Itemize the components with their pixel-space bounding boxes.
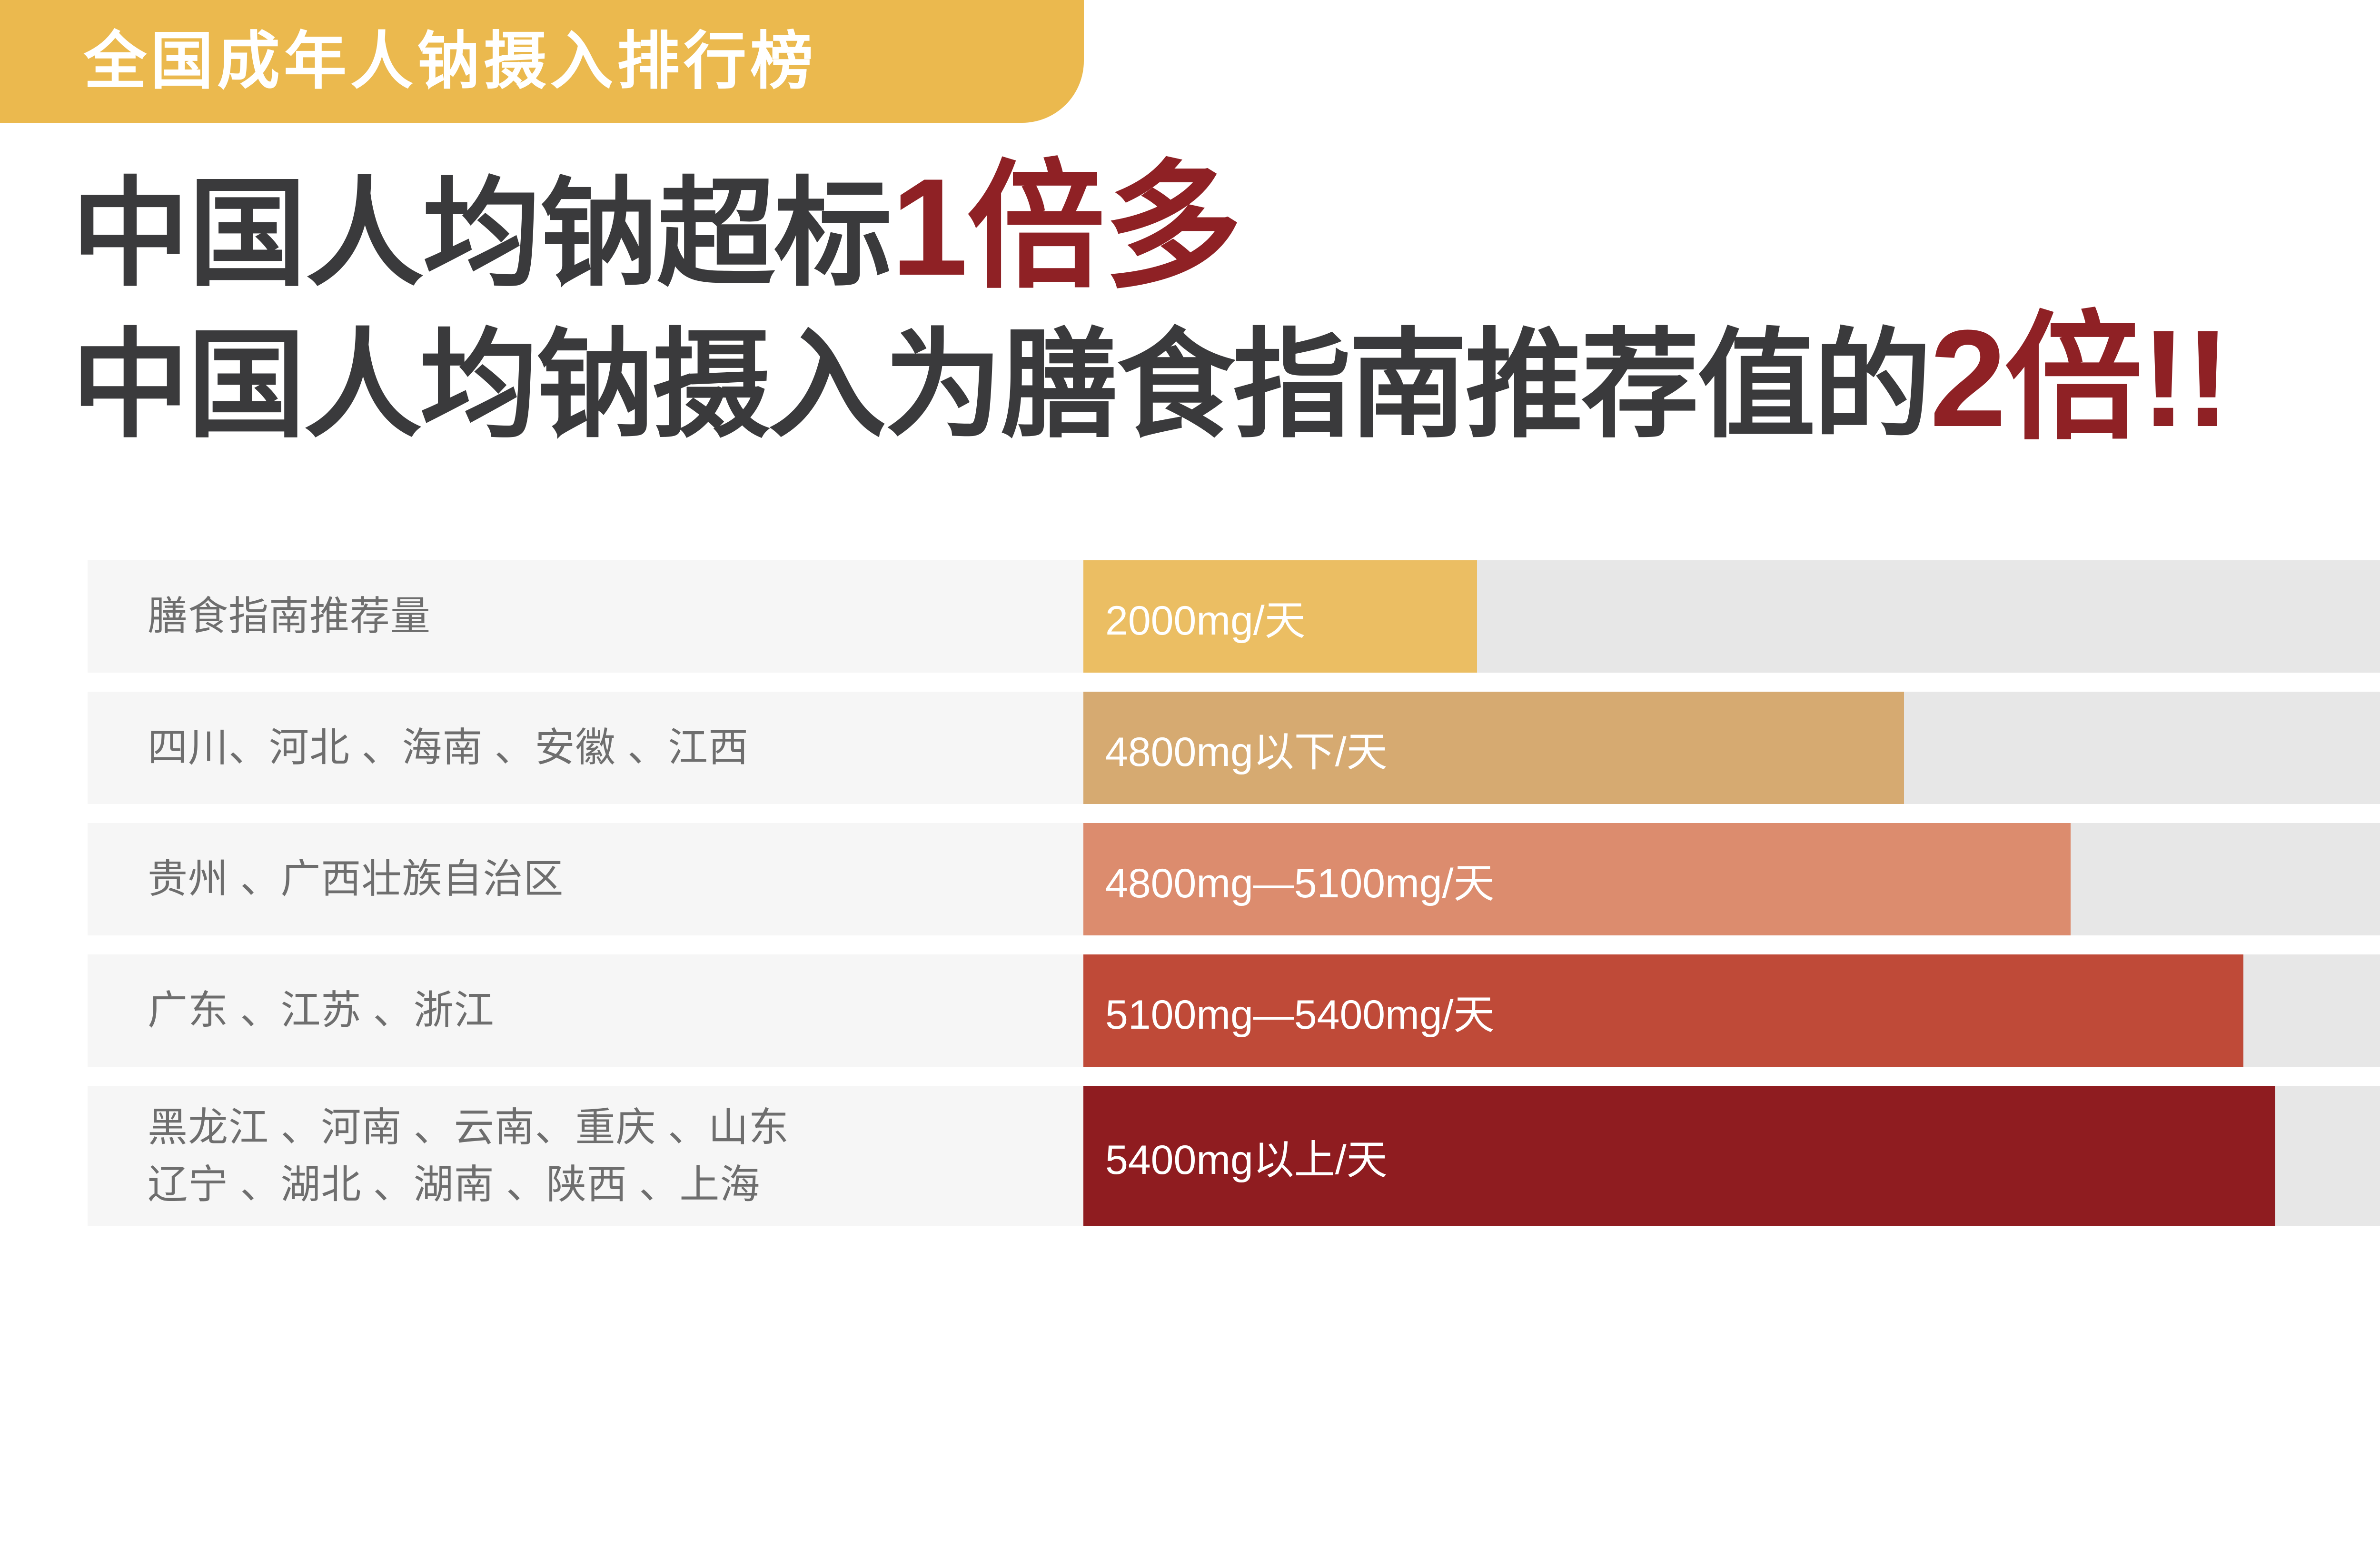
row-label-line: 膳食指南推荐量 xyxy=(148,588,1083,645)
bar-value-label: 2000mg/天 xyxy=(1105,587,1306,646)
bar-value-label: 4800mg—5100mg/天 xyxy=(1105,850,1494,909)
headline-line-1-accent: 1倍多 xyxy=(891,150,1241,304)
headline-line-1: 中国人均钠超标1倍多 xyxy=(71,157,2380,298)
bar: 5100mg—5400mg/天 xyxy=(1083,954,2243,1067)
bar-track: 5100mg—5400mg/天 xyxy=(1083,954,2380,1067)
chart-row: 黑龙江 、河南 、云南、重庆 、山东 辽宁 、湖北 、湖南 、陕西 、上海 54… xyxy=(88,1086,2380,1226)
row-label: 四川、河北 、海南 、安徽 、江西 xyxy=(88,719,1083,776)
bar: 4800mg以下/天 xyxy=(1083,692,1904,804)
bar-track: 4800mg以下/天 xyxy=(1083,692,2380,804)
bar-track: 5400mg以上/天 xyxy=(1083,1086,2380,1226)
headline-block: 中国人均钠超标1倍多 中国人均钠摄入为膳食指南推荐值的2倍!! xyxy=(71,157,2380,449)
row-label-line: 黑龙江 、河南 、云南、重庆 、山东 xyxy=(148,1099,1083,1156)
row-label: 膳食指南推荐量 xyxy=(88,588,1083,645)
chart-row: 四川、河北 、海南 、安徽 、江西 4800mg以下/天 xyxy=(88,692,2380,804)
bar-value-label: 5400mg以上/天 xyxy=(1105,1126,1388,1186)
bar: 5400mg以上/天 xyxy=(1083,1086,2275,1226)
chart-row: 贵州 、广西壮族自治区 4800mg—5100mg/天 xyxy=(88,823,2380,935)
headline-line-2: 中国人均钠摄入为膳食指南推荐值的2倍!! xyxy=(71,308,2380,449)
headline-line-1-plain: 中国人均钠超标 xyxy=(71,168,891,300)
bar-track: 4800mg—5100mg/天 xyxy=(1083,823,2380,935)
sodium-intake-bar-chart: 膳食指南推荐量 2000mg/天 四川、河北 、海南 、安徽 、江西 4800m… xyxy=(88,560,2380,1245)
header-banner: 全国成年人钠摄入排行榜 xyxy=(0,0,1084,123)
row-label-line: 广东 、江苏 、浙江 xyxy=(148,982,1083,1039)
bar: 2000mg/天 xyxy=(1083,560,1477,673)
chart-row: 膳食指南推荐量 2000mg/天 xyxy=(88,560,2380,673)
row-label: 黑龙江 、河南 、云南、重庆 、山东 辽宁 、湖北 、湖南 、陕西 、上海 xyxy=(88,1099,1083,1213)
bar: 4800mg—5100mg/天 xyxy=(1083,823,2071,935)
headline-line-2-accent: 2倍!! xyxy=(1930,301,2229,456)
banner-title: 全国成年人钠摄入排行榜 xyxy=(84,30,817,93)
headline-line-2-plain: 中国人均钠摄入为膳食指南推荐值的 xyxy=(71,319,1930,451)
chart-row: 广东 、江苏 、浙江 5100mg—5400mg/天 xyxy=(88,954,2380,1067)
bar-track: 2000mg/天 xyxy=(1083,560,2380,673)
bar-value-label: 5100mg—5400mg/天 xyxy=(1105,981,1494,1041)
bar-value-label: 4800mg以下/天 xyxy=(1105,718,1388,778)
row-label: 广东 、江苏 、浙江 xyxy=(88,982,1083,1039)
row-label-line: 辽宁 、湖北 、湖南 、陕西 、上海 xyxy=(148,1156,1083,1213)
row-label: 贵州 、广西壮族自治区 xyxy=(88,851,1083,907)
row-label-line: 四川、河北 、海南 、安徽 、江西 xyxy=(148,719,1083,776)
row-label-line: 贵州 、广西壮族自治区 xyxy=(148,851,1083,907)
